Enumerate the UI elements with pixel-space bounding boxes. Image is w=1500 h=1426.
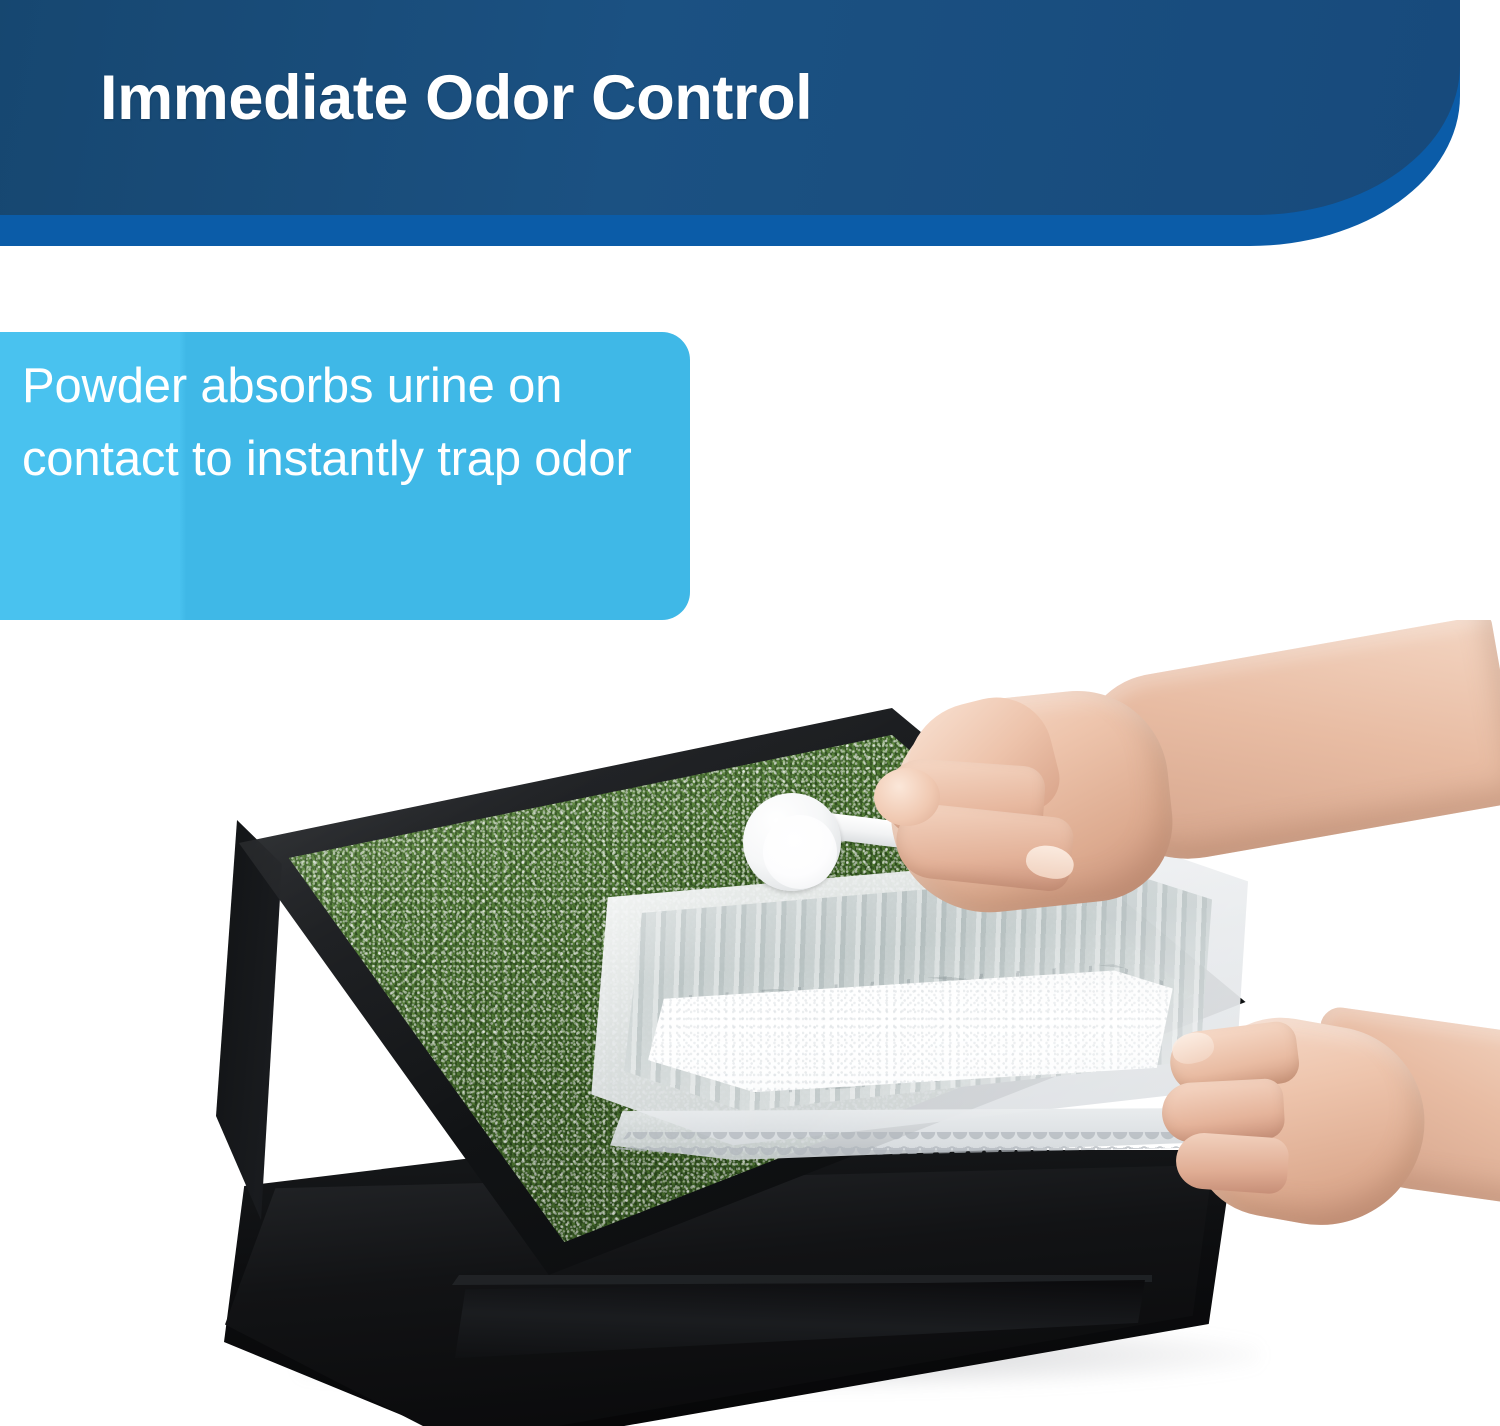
header-banner: Immediate Odor Control (0, 0, 1500, 250)
hand-holding-scoop (830, 650, 1500, 950)
scoop-bowl (743, 793, 841, 891)
ring-finger (1174, 1131, 1290, 1195)
scoop-powder-fill (763, 815, 837, 889)
feature-callout-box: Powder absorbs urine on contact to insta… (0, 332, 690, 620)
product-photo (0, 620, 1500, 1426)
thumb-tip (874, 768, 940, 826)
feature-callout-text: Powder absorbs urine on contact to insta… (22, 350, 672, 496)
page-title: Immediate Odor Control (100, 62, 812, 134)
hand-holding-tray (1160, 995, 1500, 1295)
